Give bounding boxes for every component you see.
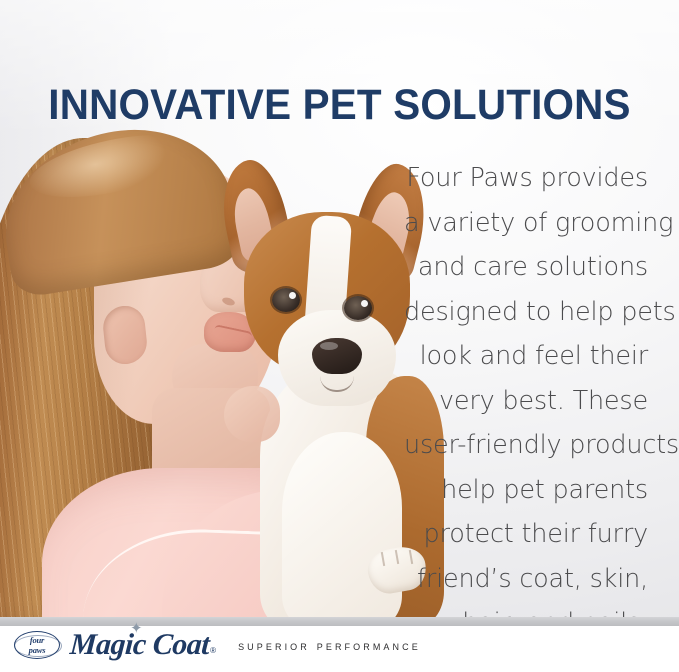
body-copy-line: user-friendly products — [404, 423, 648, 468]
promotional-banner: INNOVATIVE PET SOLUTIONS Four Paws provi… — [0, 0, 679, 672]
body-copy-line: and care solutions — [404, 245, 648, 290]
brand-logo-lockup: four paws ✦ Magic Coat ® Superior Perfor… — [14, 630, 421, 660]
body-copy-line: a variety of grooming — [404, 201, 648, 246]
puppy-left-eye — [272, 288, 300, 312]
body-copy-line: look and feel their — [404, 334, 648, 379]
four-paws-badge-line2: paws — [29, 646, 46, 655]
body-copy-line: friend’s coat, skin, — [404, 557, 648, 602]
magic-coat-text: Magic Coat — [69, 630, 210, 660]
body-copy-line: designed to help pets — [404, 290, 648, 335]
footer-divider — [0, 617, 679, 626]
body-copy-line: help pet parents — [404, 468, 648, 513]
registered-trademark-icon: ® — [210, 646, 216, 660]
puppy-left-eye-glint — [289, 292, 296, 299]
brand-tagline: Superior Performance — [238, 638, 421, 653]
page-title: INNOVATIVE PET SOLUTIONS — [20, 81, 658, 130]
body-copy-line: protect their furry — [404, 512, 648, 557]
four-paws-badge-line1: four — [30, 636, 44, 645]
girl-hand-holding-puppy — [224, 386, 280, 442]
puppy-right-eye-glint — [361, 300, 368, 307]
puppy-nose-highlight — [320, 342, 338, 350]
magic-coat-wordmark: ✦ Magic Coat ® — [70, 630, 216, 660]
body-copy-line: Four Paws provides — [404, 156, 648, 201]
body-copy: Four Paws provides a variety of grooming… — [404, 156, 648, 646]
puppy-chest — [282, 432, 402, 632]
body-copy-line: very best. These — [404, 379, 648, 424]
puppy-right-eye — [344, 296, 372, 320]
four-paws-badge-icon: four paws — [14, 631, 60, 659]
